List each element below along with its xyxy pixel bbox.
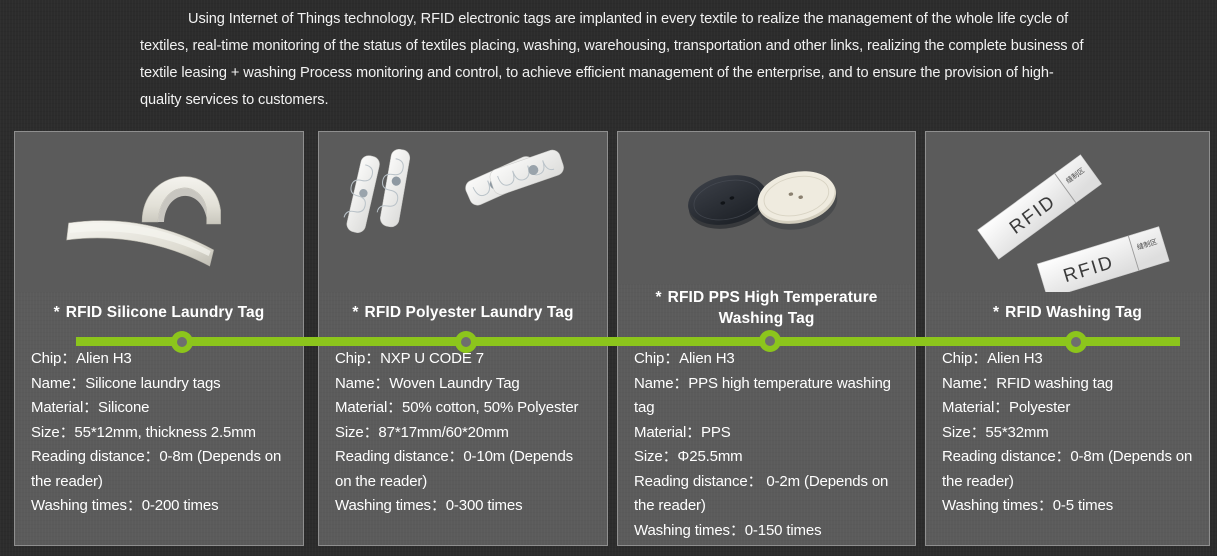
card-title: *RFID Washing Tag [926,302,1209,323]
spec-name: Name：Silicone laundry tags [31,372,289,397]
spec-washing-times: Washing times：0-150 times [634,519,901,544]
spec-material: Material：50% cotton, 50% Polyester [335,396,593,421]
card-title-text: RFID Silicone Laundry Tag [66,304,265,321]
timeline-node-4[interactable] [1065,331,1087,353]
spec-list: Chip：Alien H3 Name：PPS high temperature … [618,347,915,543]
polyester-laundry-tag-photo [319,132,607,292]
spec-size: Size：55*32mm [942,421,1195,446]
silicone-tag-illustration [15,132,303,292]
card-title-text: RFID Polyester Laundry Tag [365,304,574,321]
spec-washing-times: Washing times：0-300 times [335,494,593,519]
spec-reading-distance: Reading distance： 0-2m (Depends on the r… [634,470,901,519]
spec-name: Name：RFID washing tag [942,372,1195,397]
card-title: *RFID PPS High Temperature Washing Tag [618,287,915,329]
timeline-bar [76,337,1180,346]
spec-material: Material：Silicone [31,396,289,421]
bullet-star: * [352,304,358,321]
card-title: *RFID Polyester Laundry Tag [319,302,607,323]
pps-button-illustration [618,132,915,284]
spec-name: Name：Woven Laundry Tag [335,372,593,397]
pps-high-temperature-washing-tag-photo [618,132,915,284]
rfid-washing-tag-photo: RFID 缝制区 RFID 缝制区 [926,132,1209,292]
spec-washing-times: Washing times：0-200 times [31,494,289,519]
spec-material: Material：Polyester [942,396,1195,421]
spec-reading-distance: Reading distance：0-10m (Depends on the r… [335,445,593,494]
spec-reading-distance: Reading distance：0-8m (Depends on the re… [31,445,289,494]
spec-list: Chip：Alien H3 Name：RFID washing tag Mate… [926,347,1209,519]
timeline-node-3[interactable] [759,330,781,352]
spec-size: Size：Φ25.5mm [634,445,901,470]
card-title-text: RFID PPS High Temperature Washing Tag [668,289,878,327]
spec-material: Material：PPS [634,421,901,446]
spec-chip: Chip：Alien H3 [31,347,289,372]
spec-reading-distance: Reading distance：0-8m (Depends on the re… [942,445,1195,494]
rfid-label-illustration: RFID 缝制区 RFID 缝制区 [926,132,1209,292]
intro-paragraph: Using Internet of Things technology, RFI… [140,6,1090,114]
bullet-star: * [54,304,60,321]
spec-washing-times: Washing times：0-5 times [942,494,1195,519]
spec-size: Size：55*12mm, thickness 2.5mm [31,421,289,446]
spec-size: Size：87*17mm/60*20mm [335,421,593,446]
spec-list: Chip：Alien H3 Name：Silicone laundry tags… [15,347,303,519]
bullet-star: * [656,289,662,306]
intro-text: Using Internet of Things technology, RFI… [140,6,1090,114]
bullet-star: * [993,304,999,321]
woven-tag-illustration [319,132,607,292]
spec-list: Chip：NXP U CODE 7 Name：Woven Laundry Tag… [319,347,607,519]
card-title-text: RFID Washing Tag [1005,304,1142,321]
card-title: *RFID Silicone Laundry Tag [15,302,303,323]
timeline-node-1[interactable] [171,331,193,353]
silicone-laundry-tag-photo [15,132,303,292]
timeline-node-2[interactable] [455,331,477,353]
spec-name: Name：PPS high temperature washing tag [634,372,901,421]
